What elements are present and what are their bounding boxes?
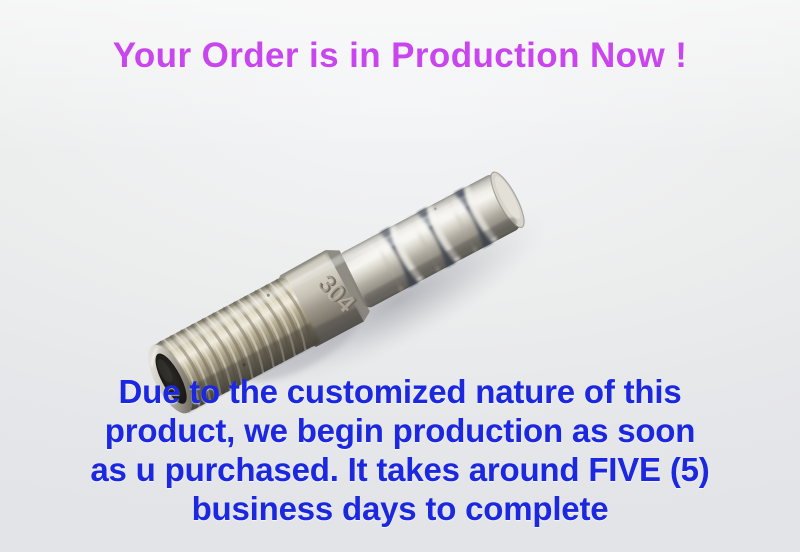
- production-note: Due to the customized nature of this pro…: [0, 372, 800, 528]
- note-line-2: product, we begin production as soon: [0, 411, 800, 450]
- promo-graphic: Your Order is in Production Now !: [0, 0, 800, 552]
- note-line-4: business days to complete: [0, 489, 800, 528]
- note-line-1: Due to the customized nature of this: [0, 372, 800, 411]
- note-line-3: as u purchased. It takes around FIVE (5): [0, 450, 800, 489]
- headline-text: Your Order is in Production Now !: [0, 36, 800, 76]
